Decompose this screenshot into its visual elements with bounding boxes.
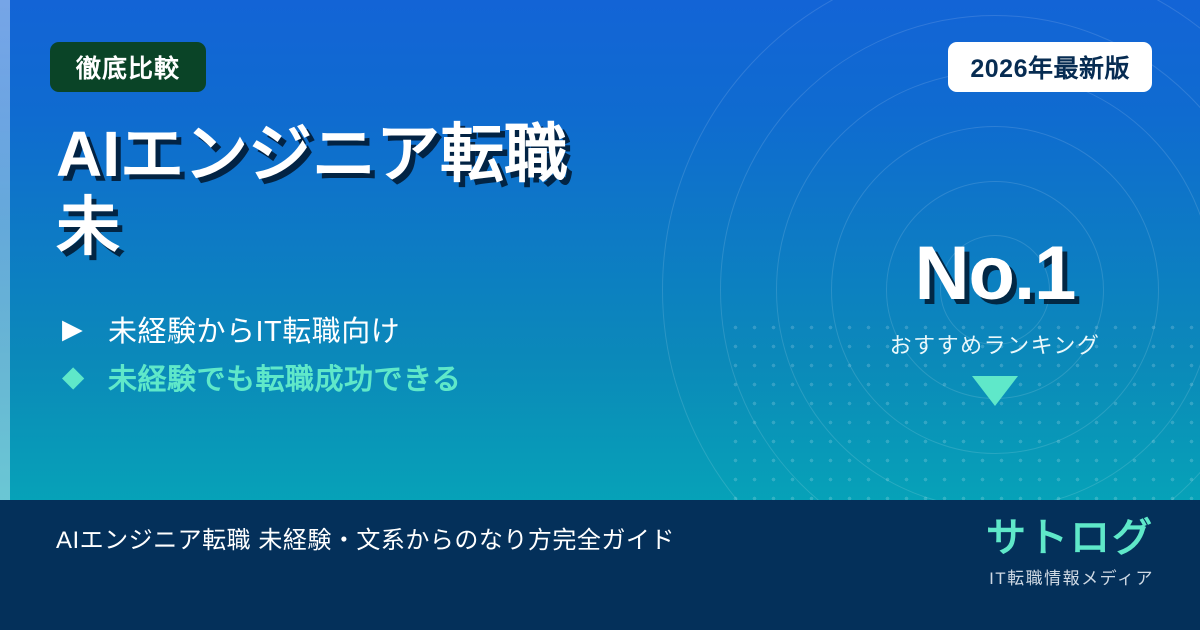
rank-caption: おすすめランキング [845, 328, 1145, 360]
footer-article-title: AIエンジニア転職 未経験・文系からのなり方完全ガイド [56, 520, 675, 555]
headline-line-2: 未 [56, 191, 756, 264]
brand-tagline: IT転職情報メディア [986, 564, 1154, 589]
list-item: ▶ 未経験からIT転職向け [62, 305, 702, 353]
year-badge: 2026年最新版 [948, 42, 1152, 92]
bullet-label: 未経験からIT転職向け [108, 308, 400, 350]
list-item: ◆ 未経験でも転職成功できる [62, 353, 702, 401]
brand-logo: サトログ IT転職情報メディア [986, 516, 1154, 589]
feature-bullet-list: ▶ 未経験からIT転職向け ◆ 未経験でも転職成功できる [62, 305, 702, 401]
diamond-icon: ◆ [62, 363, 108, 392]
headline-line-1: AIエンジニア転職 [56, 118, 756, 191]
og-image-card: 徹底比較 2026年最新版 AIエンジニア転職 未 ▶ 未経験からIT転職向け … [0, 0, 1200, 630]
brand-name: サトログ [986, 516, 1154, 560]
rank-number: No.1 [845, 236, 1145, 312]
comparison-badge: 徹底比較 [50, 42, 206, 92]
footer-bar: AIエンジニア転職 未経験・文系からのなり方完全ガイド サトログ IT転職情報メ… [0, 500, 1200, 630]
left-accent-stripe [0, 0, 10, 500]
triangle-down-icon [972, 376, 1018, 406]
triangle-right-icon: ▶ [62, 316, 108, 343]
page-title: AIエンジニア転職 未 [56, 118, 756, 264]
ranking-block: No.1 おすすめランキング [845, 236, 1145, 406]
bullet-label: 未経験でも転職成功できる [108, 356, 461, 398]
